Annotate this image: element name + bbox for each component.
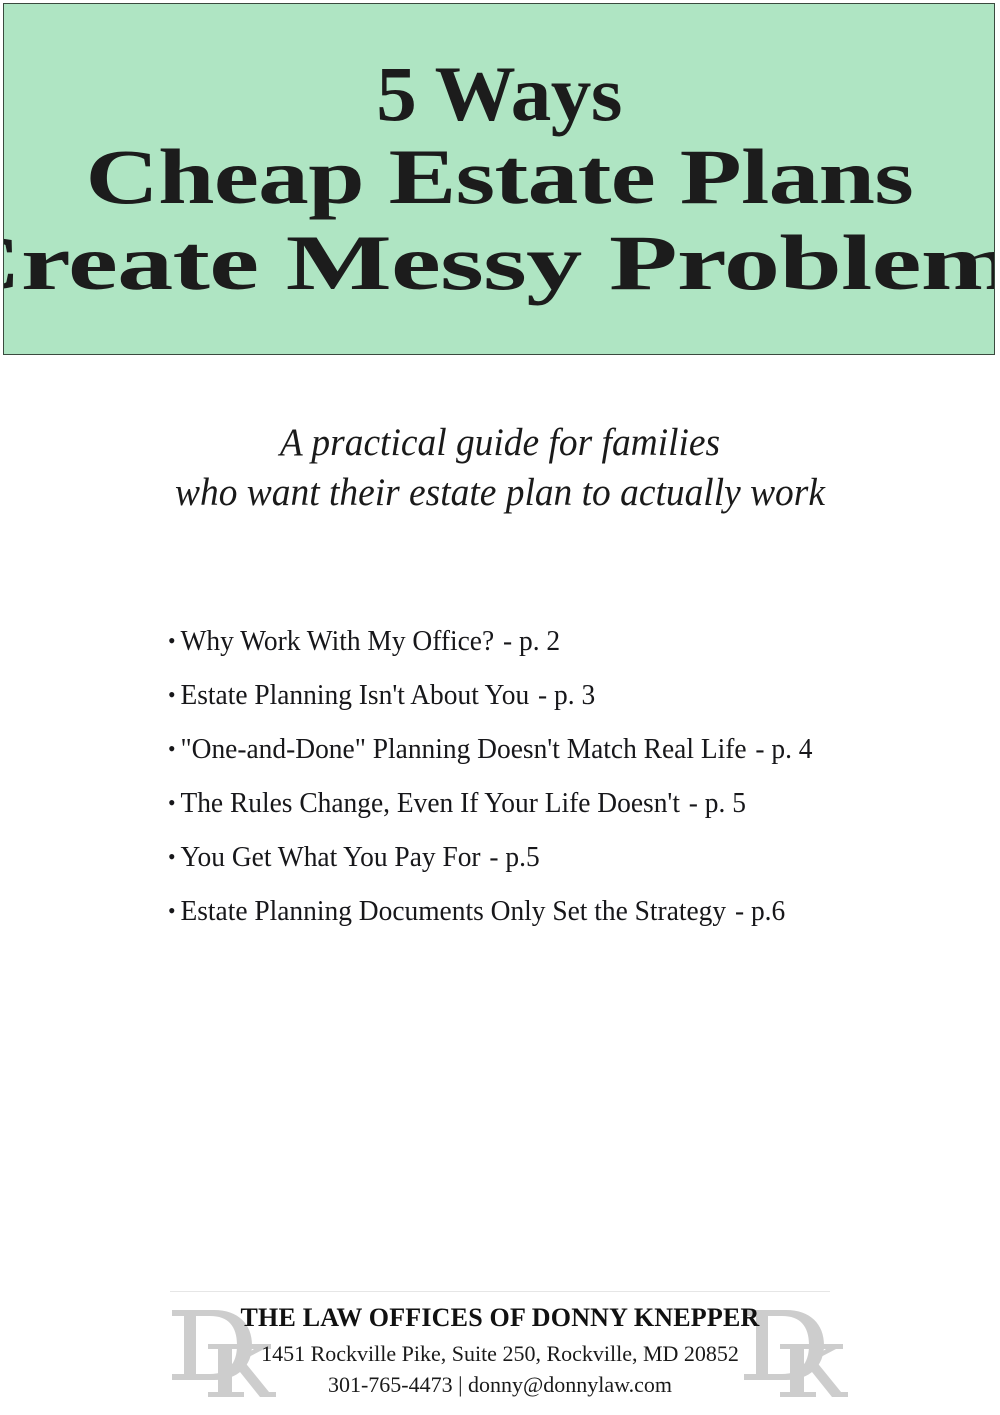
toc-item-page: p. 4 — [771, 734, 812, 765]
footer-divider — [170, 1291, 830, 1292]
toc-item-label: You Get What You Pay For — [180, 842, 480, 873]
toc-item-label: The Rules Change, Even If Your Life Does… — [180, 788, 680, 819]
toc-item-page: p.6 — [751, 896, 785, 927]
title-line-1: 5 Ways — [376, 56, 622, 132]
toc-item[interactable]: •You Get What You Pay For-p.5 — [168, 844, 952, 872]
toc-item[interactable]: •The Rules Change, Even If Your Life Doe… — [168, 790, 952, 818]
toc-item-page: p. 2 — [519, 626, 560, 657]
toc-item-label: Estate Planning Documents Only Set the S… — [180, 896, 726, 927]
subtitle-line-1: A practical guide for families — [20, 418, 980, 468]
bullet-icon: • — [168, 898, 176, 923]
toc-item[interactable]: •"One-and-Done" Planning Doesn't Match R… — [168, 736, 952, 764]
table-of-contents: •Why Work With My Office?-p. 2 •Estate P… — [168, 628, 968, 952]
toc-item-page: p. 5 — [705, 788, 746, 819]
toc-separator: - — [538, 680, 547, 711]
title-line-2: Cheap Estate Plans — [85, 139, 913, 215]
title-line-3: Create Messy Problems — [3, 225, 995, 301]
footer: THE LAW OFFICES OF DONNY KNEPPER 1451 Ro… — [0, 1280, 1000, 1415]
title-banner: 5 Ways Cheap Estate Plans Create Messy P… — [3, 3, 995, 355]
subtitle-line-2: who want their estate plan to actually w… — [20, 468, 980, 518]
bullet-icon: • — [168, 790, 176, 815]
bullet-icon: • — [168, 736, 176, 761]
toc-separator: - — [489, 842, 498, 873]
toc-item-page: p. 3 — [554, 680, 595, 711]
footer-text-block: THE LAW OFFICES OF DONNY KNEPPER 1451 Ro… — [0, 1302, 1000, 1401]
toc-separator: - — [503, 626, 512, 657]
bullet-icon: • — [168, 628, 176, 653]
firm-address: 1451 Rockville Pike, Suite 250, Rockvill… — [0, 1338, 1000, 1370]
firm-contact[interactable]: 301-765-4473 | donny@donnylaw.com — [0, 1369, 1000, 1401]
subtitle: A practical guide for families who want … — [0, 418, 1000, 518]
toc-item-label: Estate Planning Isn't About You — [180, 680, 529, 711]
bullet-icon: • — [168, 844, 176, 869]
toc-item[interactable]: •Estate Planning Documents Only Set the … — [168, 898, 952, 926]
toc-separator: - — [689, 788, 698, 819]
toc-item[interactable]: •Why Work With My Office?-p. 2 — [168, 628, 952, 656]
toc-separator: - — [735, 896, 744, 927]
bullet-icon: • — [168, 682, 176, 707]
firm-name: THE LAW OFFICES OF DONNY KNEPPER — [0, 1302, 1000, 1335]
toc-item-page: p.5 — [505, 842, 539, 873]
toc-item[interactable]: •Estate Planning Isn't About You-p. 3 — [168, 682, 952, 710]
toc-item-label: Why Work With My Office? — [180, 626, 494, 657]
toc-separator: - — [755, 734, 764, 765]
toc-item-label: "One-and-Done" Planning Doesn't Match Re… — [180, 734, 746, 765]
